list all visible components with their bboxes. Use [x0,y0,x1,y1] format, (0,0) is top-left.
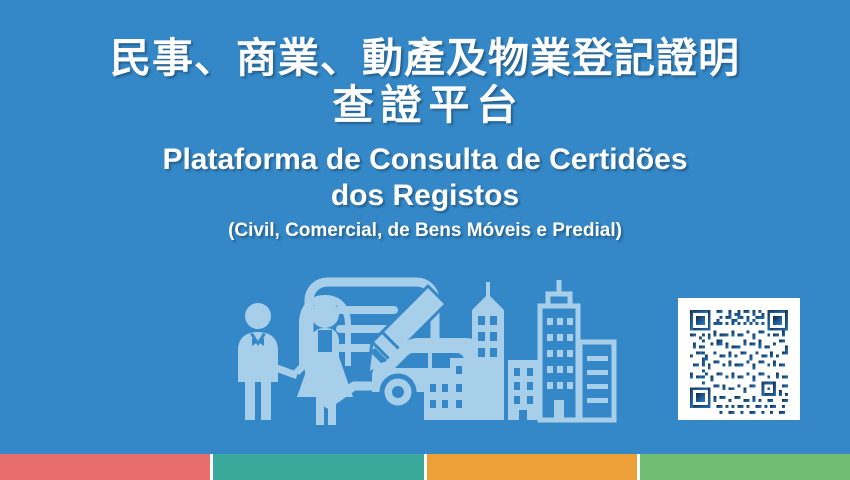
portuguese-title-line-2: dos Registos [0,178,850,215]
color-bar-segment-teal [213,454,423,480]
wedding-couple-icon [238,295,353,425]
portuguese-subtitle: (Civil, Comercial, de Bens Móveis e Pred… [0,220,850,242]
bottom-color-bar [0,454,850,480]
title-block: 民事、商業、動產及物業登記證明 查證平台 Plataforma de Consu… [0,0,850,242]
color-bar-segment-red [0,454,210,480]
chinese-title-line-2: 查證平台 [0,80,850,131]
qr-code[interactable] [678,298,800,420]
color-bar-segment-green [640,454,850,480]
poster-banner: 民事、商業、動產及物業登記證明 查證平台 Plataforma de Consu… [0,0,850,480]
illustration-group [228,268,628,433]
color-bar-segment-orange [427,454,637,480]
portuguese-title-line-1: Plataforma de Consulta de Certidões [0,142,850,179]
chinese-title-line-1: 民事、商業、動產及物業登記證明 [0,36,850,80]
